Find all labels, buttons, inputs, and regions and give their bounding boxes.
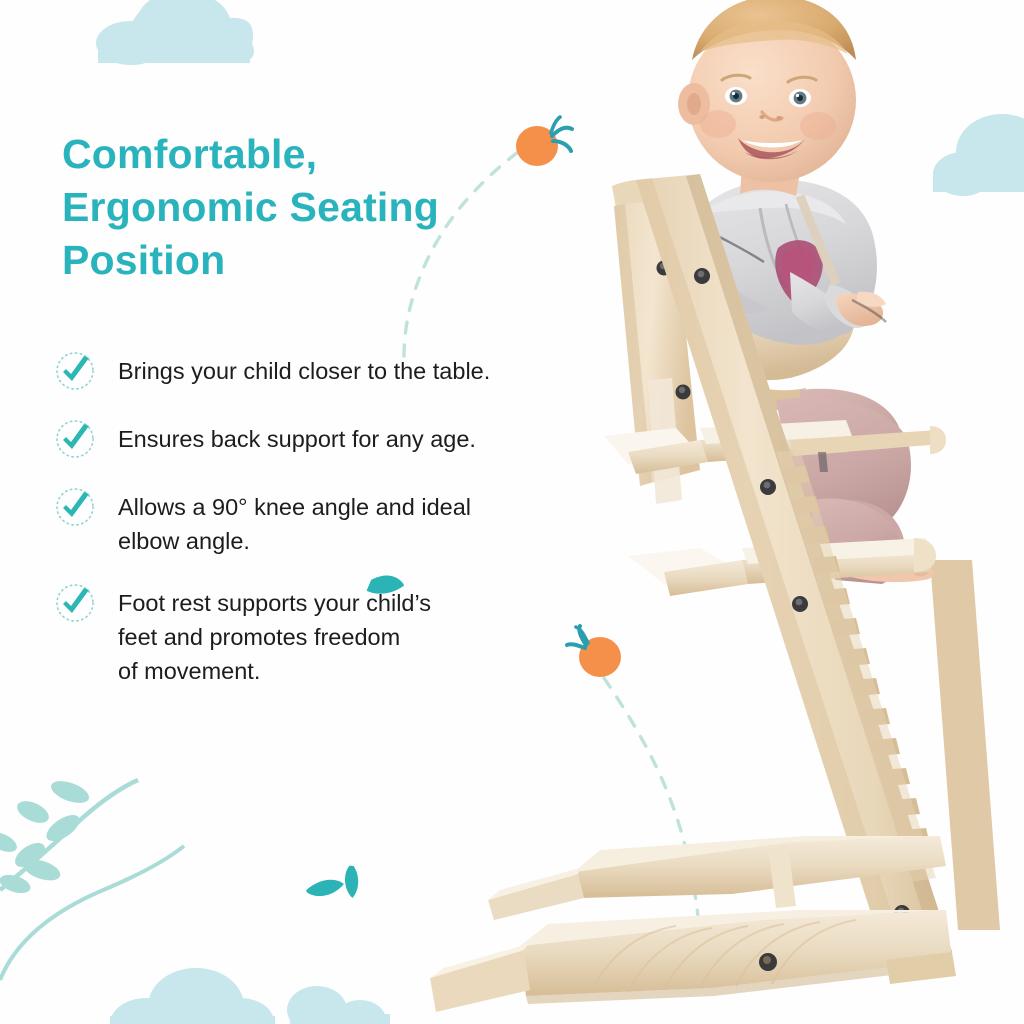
check-icon (52, 416, 98, 462)
benefits-list: Brings your child closer to the table. E… (52, 352, 562, 714)
list-item-label: Allows a 90° knee angle and ideal elbow … (118, 488, 471, 558)
list-item: Allows a 90° knee angle and ideal elbow … (52, 488, 562, 558)
list-item: Ensures back support for any age. (52, 420, 562, 462)
list-item-label: Brings your child closer to the table. (118, 352, 490, 388)
list-item: Brings your child closer to the table. (52, 352, 562, 394)
list-item: Foot rest supports your child’s feet and… (52, 584, 562, 688)
page-title-line-3: Position (62, 234, 542, 287)
list-item-label: Ensures back support for any age. (118, 420, 476, 456)
page-title-line-1: Comfortable, (62, 128, 542, 181)
list-item-label: Foot rest supports your child’s feet and… (118, 584, 431, 688)
check-icon (52, 484, 98, 530)
check-icon (52, 348, 98, 394)
page-title: Comfortable, Ergonomic Seating Position (62, 128, 542, 287)
chair-far-rail (930, 560, 1000, 930)
page-title-line-2: Ergonomic Seating (62, 181, 542, 234)
poster-canvas: Comfortable, Ergonomic Seating Position … (0, 0, 1024, 1024)
check-icon (52, 580, 98, 626)
chair-base-runner-lower (430, 910, 952, 1012)
